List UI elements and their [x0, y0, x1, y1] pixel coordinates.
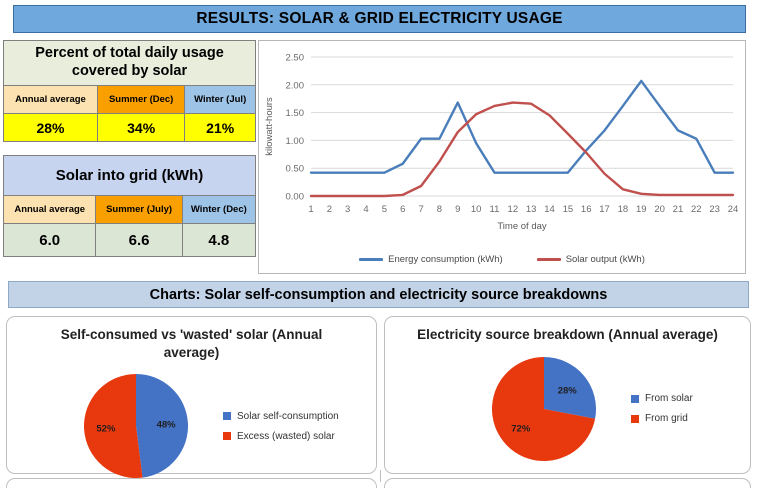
table-solar-into-grid-title: Solar into grid (kWh): [4, 156, 256, 196]
pie-legend-item-from-solar[interactable]: From solar: [631, 393, 750, 404]
pie-chart-self-consumed-vs-wasted: 48%52%: [75, 367, 197, 485]
svg-text:1: 1: [308, 204, 313, 215]
pie-legend-label-from-grid: From grid: [645, 413, 688, 424]
svg-text:2: 2: [327, 204, 332, 215]
svg-text:kilowatt-hours: kilowatt-hours: [264, 97, 275, 156]
pie-legend-electricity-source-breakdown: From solar From grid: [605, 393, 750, 424]
svg-text:5: 5: [382, 204, 387, 215]
svg-text:12: 12: [508, 204, 519, 215]
svg-text:18: 18: [618, 204, 629, 215]
pie-legend-self-consumed-vs-wasted: Solar self-consumption Excess (wasted) s…: [197, 411, 376, 442]
svg-text:Time of day: Time of day: [497, 221, 547, 232]
legend-swatch-solar-output: [537, 258, 561, 261]
table-percent-solar-value-summer: 34%: [97, 114, 184, 142]
pie-legend-swatch-from-grid: [631, 415, 639, 423]
svg-text:0.00: 0.00: [286, 192, 305, 203]
svg-text:3: 3: [345, 204, 350, 215]
legend-item-solar-output[interactable]: Solar output (kWh): [537, 254, 645, 265]
pie-legend-item-solar-self-consumption[interactable]: Solar self-consumption: [223, 411, 376, 422]
svg-text:13: 13: [526, 204, 537, 215]
table-percent-solar: Percent of total daily usage covered by …: [3, 40, 256, 142]
pie-card-next-left[interactable]: [6, 478, 377, 488]
pie-legend-item-from-grid[interactable]: From grid: [631, 413, 750, 424]
line-chart-svg: 0.000.501.001.502.002.50kilowatt-hours12…: [259, 41, 745, 241]
pie-legend-label-excess-wasted-solar: Excess (wasted) solar: [237, 431, 335, 442]
table-solar-into-grid-value-winter: 4.8: [182, 224, 255, 257]
svg-text:2.00: 2.00: [286, 80, 305, 91]
svg-text:19: 19: [636, 204, 647, 215]
line-chart-daily-profile[interactable]: 0.000.501.001.502.002.50kilowatt-hours12…: [258, 40, 746, 274]
pie-legend-item-excess-wasted-solar[interactable]: Excess (wasted) solar: [223, 431, 376, 442]
legend-label-energy-consumption: Energy consumption (kWh): [388, 254, 503, 265]
pie-legend-swatch-excess-wasted-solar: [223, 432, 231, 440]
pie-legend-swatch-from-solar: [631, 395, 639, 403]
table-solar-into-grid-header-annual: Annual average: [4, 196, 96, 224]
svg-text:17: 17: [599, 204, 610, 215]
pie-data-label: 48%: [157, 420, 177, 431]
pie-data-label: 52%: [96, 423, 116, 434]
pie-title-electricity-source-breakdown: Electricity source breakdown (Annual ave…: [385, 317, 750, 344]
svg-text:0.50: 0.50: [286, 164, 305, 175]
pie-data-label: 72%: [511, 423, 531, 434]
legend-item-energy-consumption[interactable]: Energy consumption (kWh): [359, 254, 503, 265]
svg-text:14: 14: [544, 204, 555, 215]
pie-chart-electricity-source-breakdown: 28%72%: [483, 350, 605, 468]
legend-label-solar-output: Solar output (kWh): [566, 254, 645, 265]
pie-card-next-right[interactable]: [384, 478, 751, 488]
svg-text:16: 16: [581, 204, 592, 215]
svg-text:6: 6: [400, 204, 405, 215]
panel-divider: [380, 470, 381, 482]
pie-card-self-consumed-vs-wasted[interactable]: Self-consumed vs 'wasted' solar (Annual …: [6, 316, 377, 474]
svg-text:20: 20: [654, 204, 665, 215]
legend-swatch-energy-consumption: [359, 258, 383, 261]
svg-text:24: 24: [728, 204, 739, 215]
table-solar-into-grid-value-annual: 6.0: [4, 224, 96, 257]
pie-title-self-consumed-vs-wasted: Self-consumed vs 'wasted' solar (Annual …: [7, 317, 376, 361]
pie-data-label: 28%: [558, 385, 578, 396]
svg-text:9: 9: [455, 204, 460, 215]
svg-text:21: 21: [673, 204, 684, 215]
svg-text:8: 8: [437, 204, 442, 215]
svg-text:11: 11: [490, 204, 500, 215]
spreadsheet-canvas: RESULTS: SOLAR & GRID ELECTRICITY USAGE …: [0, 0, 757, 488]
table-solar-into-grid-value-summer: 6.6: [96, 224, 182, 257]
pie-legend-label-from-solar: From solar: [645, 393, 693, 404]
table-solar-into-grid: Solar into grid (kWh) Annual average Sum…: [3, 155, 256, 257]
line-chart-legend: Energy consumption (kWh) Solar output (k…: [259, 254, 745, 265]
results-banner-title: RESULTS: SOLAR & GRID ELECTRICITY USAGE: [196, 10, 562, 28]
table-percent-solar-value-winter: 21%: [185, 114, 256, 142]
table-solar-into-grid-header-summer: Summer (July): [96, 196, 182, 224]
charts-banner: Charts: Solar self-consumption and elect…: [8, 281, 749, 308]
table-row: 6.0 6.6 4.8: [4, 224, 256, 257]
svg-text:1.50: 1.50: [286, 108, 305, 119]
svg-text:7: 7: [418, 204, 423, 215]
pie-legend-label-solar-self-consumption: Solar self-consumption: [237, 411, 339, 422]
svg-text:10: 10: [471, 204, 482, 215]
svg-text:22: 22: [691, 204, 702, 215]
svg-text:23: 23: [709, 204, 720, 215]
table-percent-solar-header-annual: Annual average: [4, 86, 98, 114]
pie-card-electricity-source-breakdown[interactable]: Electricity source breakdown (Annual ave…: [384, 316, 751, 474]
charts-banner-title: Charts: Solar self-consumption and elect…: [150, 287, 608, 303]
table-percent-solar-header-summer: Summer (Dec): [97, 86, 184, 114]
pie-legend-swatch-solar-self-consumption: [223, 412, 231, 420]
svg-text:15: 15: [563, 204, 574, 215]
table-row: 28% 34% 21%: [4, 114, 256, 142]
svg-text:2.50: 2.50: [286, 53, 305, 64]
table-percent-solar-value-annual: 28%: [4, 114, 98, 142]
svg-text:4: 4: [363, 204, 368, 215]
table-percent-solar-header-winter: Winter (Jul): [185, 86, 256, 114]
svg-text:1.00: 1.00: [286, 136, 305, 147]
table-percent-solar-title: Percent of total daily usage covered by …: [4, 41, 256, 86]
results-banner: RESULTS: SOLAR & GRID ELECTRICITY USAGE: [13, 5, 746, 33]
table-solar-into-grid-header-winter: Winter (Dec): [182, 196, 255, 224]
